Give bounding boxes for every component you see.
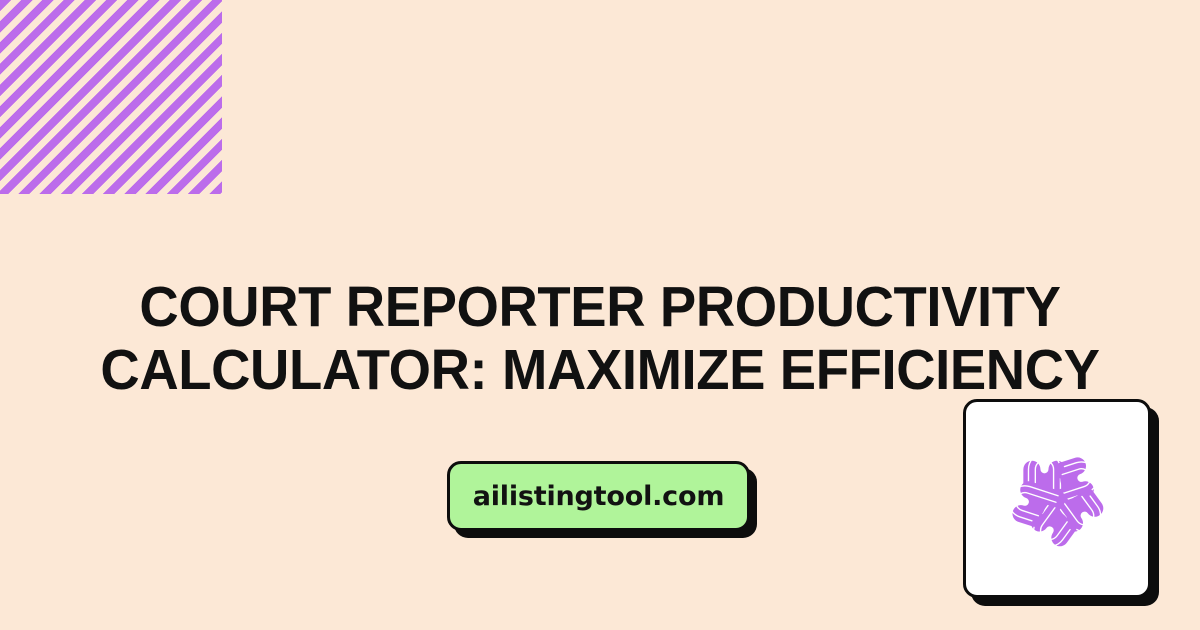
domain-button[interactable]: ailistingtool.com (447, 461, 750, 531)
domain-button-label: ailistingtool.com (473, 481, 725, 512)
page-title: COURT REPORTER PRODUCTIVITY CALCULATOR: … (84, 276, 1115, 402)
og-share-card: COURT REPORTER PRODUCTIVITY CALCULATOR: … (0, 0, 1200, 630)
diagonal-stripes-pattern-icon (0, 0, 222, 194)
pinwheel-spiral-logo-icon (995, 437, 1119, 561)
logo-card (963, 399, 1151, 598)
